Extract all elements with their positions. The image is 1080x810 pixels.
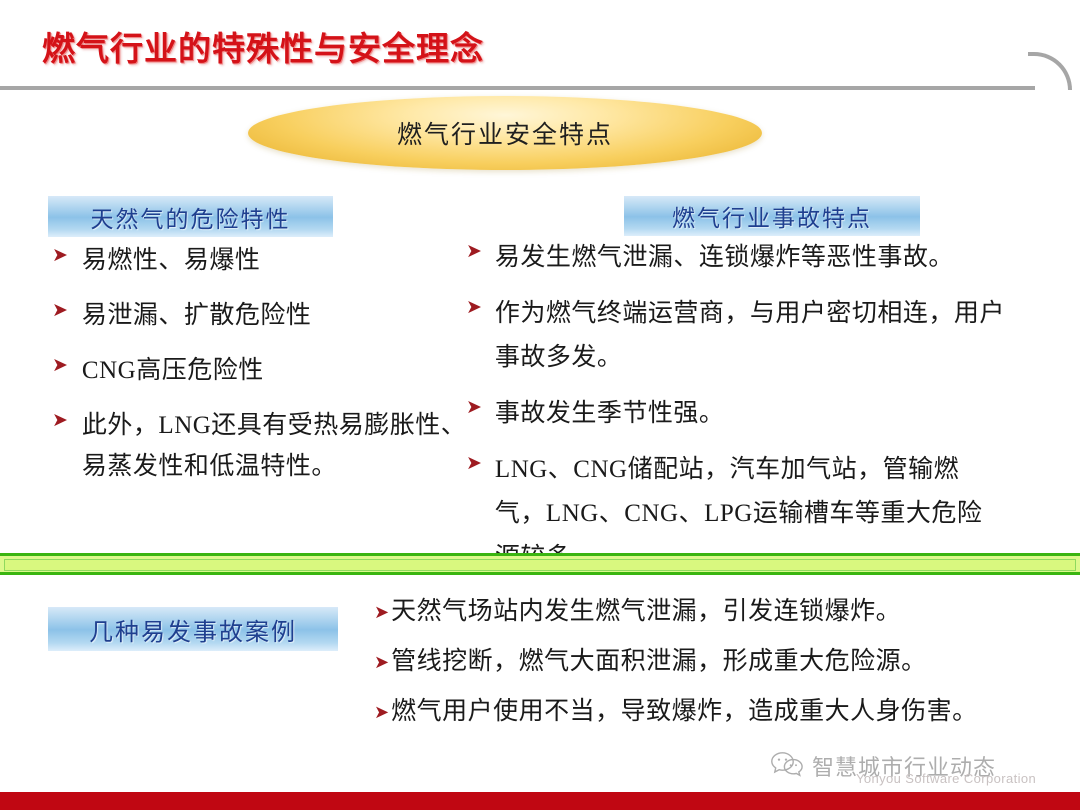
arrow-bullet-icon: ➤ <box>374 603 389 621</box>
bottom-panel-bullet-list: ➤ 天然气场站内发生燃气泄漏，引发连锁爆炸。 ➤ 管线挖断，燃气大面积泄漏，形成… <box>374 596 1074 746</box>
bottom-panel-heading-box: 几种易发事故案例 <box>48 607 338 651</box>
list-item: ➤ 天然气场站内发生燃气泄漏，引发连锁爆炸。 <box>374 596 1074 628</box>
arrow-bullet-icon: ➤ <box>52 246 68 265</box>
list-item-text: 事故发生季节性强。 <box>495 392 725 436</box>
title-divider-curve <box>1028 52 1072 90</box>
right-panel-heading-label: 燃气行业事故特点 <box>672 199 872 233</box>
list-item-text: 作为燃气终端运营商，与用户密切相连，用户事故多发。 <box>495 292 1006 380</box>
arrow-bullet-icon: ➤ <box>466 454 482 473</box>
list-item-text: 易发生燃气泄漏、连锁爆炸等恶性事故。 <box>495 236 954 280</box>
list-item-text: 管线挖断，燃气大面积泄漏，形成重大危险源。 <box>391 646 927 678</box>
list-item: ➤ CNG高压危险性 <box>52 350 472 391</box>
left-panel-heading-box: 天然气的危险特性 <box>48 196 333 237</box>
arrow-bullet-icon: ➤ <box>52 301 68 320</box>
footer-bar <box>0 792 1080 810</box>
arrow-bullet-icon: ➤ <box>52 411 68 430</box>
right-panel-heading-box: 燃气行业事故特点 <box>624 196 920 236</box>
section-divider-inner <box>4 559 1076 571</box>
right-panel-bullet-list: ➤ 易发生燃气泄漏、连锁爆炸等恶性事故。 ➤ 作为燃气终端运营商，与用户密切相连… <box>466 236 1006 592</box>
list-item: ➤ 燃气用户使用不当，导致爆炸，造成重大人身伤害。 <box>374 696 1074 728</box>
slide-canvas: 燃气行业的特殊性与安全理念 燃气行业安全特点 天然气的危险特性 燃气行业事故特点… <box>0 0 1080 810</box>
wechat-icon <box>770 751 804 782</box>
arrow-bullet-icon: ➤ <box>374 703 389 721</box>
arrow-bullet-icon: ➤ <box>466 242 482 261</box>
page-title: 燃气行业的特殊性与安全理念 <box>42 22 484 70</box>
arrow-bullet-icon: ➤ <box>466 398 482 417</box>
left-panel-bullet-list: ➤ 易燃性、易爆性 ➤ 易泄漏、扩散危险性 ➤ CNG高压危险性 ➤ 此外，LN… <box>52 240 472 501</box>
list-item: ➤ 易发生燃气泄漏、连锁爆炸等恶性事故。 <box>466 236 1006 280</box>
list-item-text: 燃气用户使用不当，导致爆炸，造成重大人身伤害。 <box>391 696 978 728</box>
banner-label: 燃气行业安全特点 <box>248 96 762 170</box>
list-item: ➤ 易泄漏、扩散危险性 <box>52 295 472 336</box>
list-item: ➤ 易燃性、易爆性 <box>52 240 472 281</box>
arrow-bullet-icon: ➤ <box>466 298 482 317</box>
list-item-text: 易泄漏、扩散危险性 <box>82 295 312 336</box>
slide-title-bar: 燃气行业的特殊性与安全理念 <box>0 8 1080 78</box>
arrow-bullet-icon: ➤ <box>52 356 68 375</box>
watermark-subtitle: Yonyou Software Corporation <box>856 771 1036 786</box>
list-item-text: 易燃性、易爆性 <box>82 240 261 281</box>
banner-ellipse: 燃气行业安全特点 <box>248 96 762 170</box>
title-divider-line <box>0 86 1035 90</box>
left-panel-heading-label: 天然气的危险特性 <box>91 200 291 234</box>
section-divider-bar <box>0 553 1080 575</box>
list-item-text: 此外，LNG还具有受热易膨胀性、易蒸发性和低温特性。 <box>82 405 472 487</box>
arrow-bullet-icon: ➤ <box>374 653 389 671</box>
list-item-text: 天然气场站内发生燃气泄漏，引发连锁爆炸。 <box>391 596 901 628</box>
list-item: ➤ 管线挖断，燃气大面积泄漏，形成重大危险源。 <box>374 646 1074 678</box>
list-item-text: CNG高压危险性 <box>82 350 264 391</box>
list-item: ➤ 作为燃气终端运营商，与用户密切相连，用户事故多发。 <box>466 292 1006 380</box>
list-item: ➤ 此外，LNG还具有受热易膨胀性、易蒸发性和低温特性。 <box>52 405 472 487</box>
list-item: ➤ 事故发生季节性强。 <box>466 392 1006 436</box>
bottom-panel-heading-label: 几种易发事故案例 <box>89 612 297 647</box>
